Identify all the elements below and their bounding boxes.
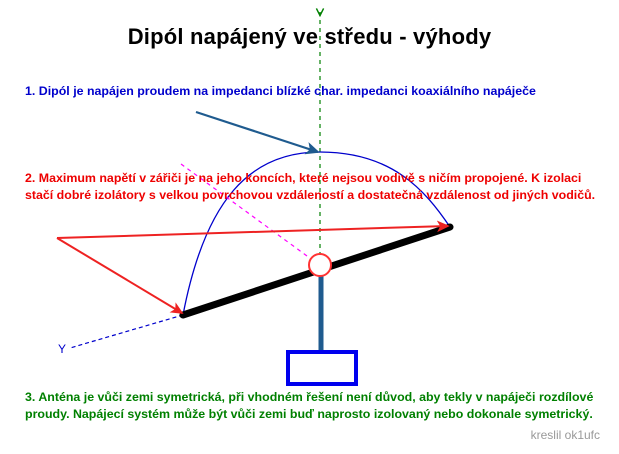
- axis-label-y: Y: [58, 342, 66, 356]
- page-title: Dipól napájený ve středu - výhody: [0, 24, 619, 50]
- callout-arrow-note2-left: [57, 238, 182, 313]
- slide-canvas: Dipól napájený ve středu - výhody 1. Dip…: [0, 0, 619, 454]
- note-item-3: 3. Anténa je vůči zemi symetrická, při v…: [25, 389, 605, 423]
- antenna-diagram: [0, 0, 619, 454]
- callout-arrow-note2-right: [57, 226, 448, 238]
- transceiver-box: [288, 352, 356, 384]
- callout-arrow-note1: [196, 112, 318, 152]
- y-axis-dashed: [70, 315, 183, 348]
- author-signature: kreslil ok1ufc: [0, 428, 600, 442]
- feedpoint-ring: [309, 254, 331, 276]
- note-item-1: 1. Dipól je napájen proudem na impedanci…: [25, 83, 605, 100]
- note-item-2: 2. Maximum napětí v zářiči je na jeho ko…: [25, 170, 605, 204]
